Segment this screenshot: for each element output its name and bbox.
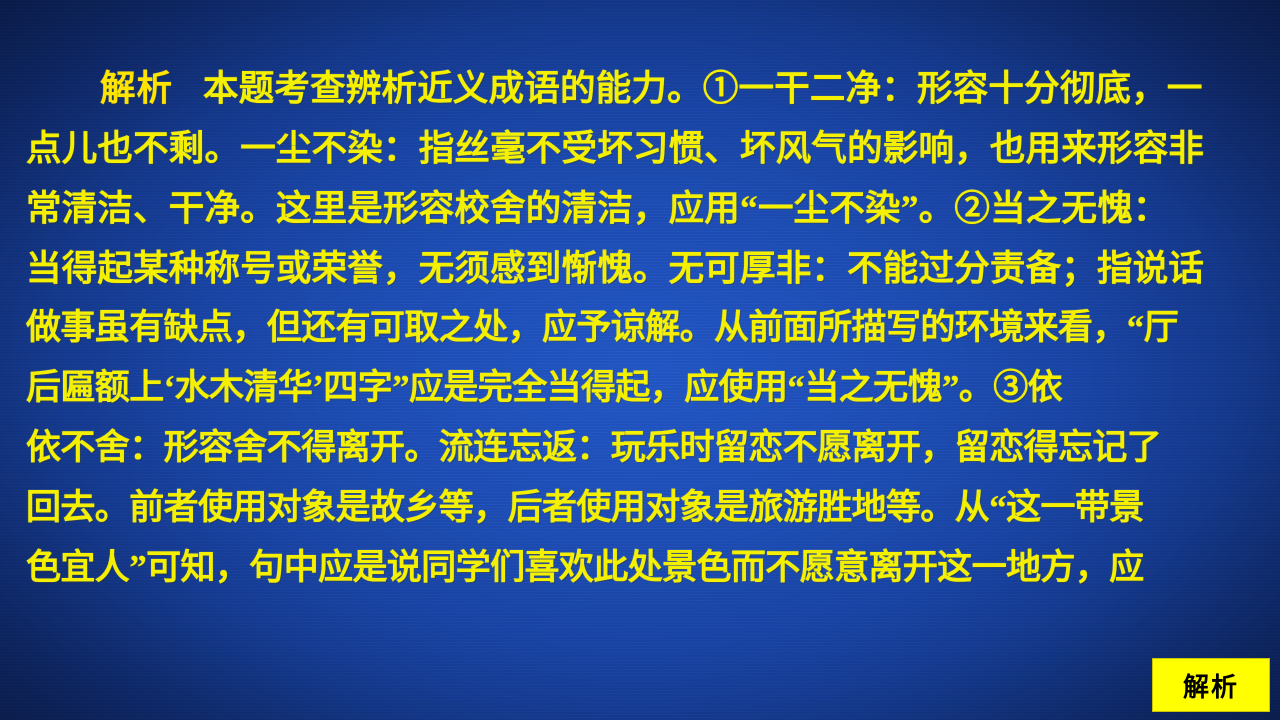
text-line-6: 后匾额上‘水木清华’四字”应是完全当得起，应使用“当之无愧”。③依 bbox=[26, 358, 1258, 418]
explanation-text-block: 解析本题考查辨析近义成语的能力。①一干二净：形容十分彻底，一 点儿也不剩。一尘不… bbox=[26, 58, 1258, 598]
text-line-9: 色宜人”可知，句中应是说同学们喜欢此处景色而不愿意离开这一地方，应 bbox=[26, 538, 1258, 598]
text-line-5: 做事虽有缺点，但还有可取之处，应予谅解。从前面所描写的环境来看，“厅 bbox=[26, 298, 1258, 358]
answer-badge[interactable]: 解析 bbox=[1152, 658, 1270, 712]
text-line-1: 解析本题考查辨析近义成语的能力。①一干二净：形容十分彻底，一 bbox=[26, 58, 1258, 118]
answer-badge-label: 解析 bbox=[1183, 667, 1239, 704]
text-line-7: 依不舍：形容舍不得离开。流连忘返：玩乐时留恋不愿离开，留恋得忘记了 bbox=[26, 418, 1258, 478]
text-line-2: 点儿也不剩。一尘不染：指丝毫不受坏习惯、坏风气的影响，也用来形容非 bbox=[26, 118, 1258, 178]
text-line-4: 当得起某种称号或荣誉，无须感到惭愧。无可厚非：不能过分责备；指说话 bbox=[26, 238, 1258, 298]
text-line-1-content: 本题考查辨析近义成语的能力。①一干二净：形容十分彻底，一 bbox=[203, 68, 1203, 108]
explanation-label: 解析 bbox=[100, 68, 203, 108]
text-line-3: 常清洁、干净。这里是形容校舍的清洁，应用“一尘不染”。②当之无愧： bbox=[26, 178, 1258, 238]
text-line-8: 回去。前者使用对象是故乡等，后者使用对象是旅游胜地等。从“这一带景 bbox=[26, 478, 1258, 538]
slide-canvas: 解析本题考查辨析近义成语的能力。①一干二净：形容十分彻底，一 点儿也不剩。一尘不… bbox=[0, 0, 1280, 720]
